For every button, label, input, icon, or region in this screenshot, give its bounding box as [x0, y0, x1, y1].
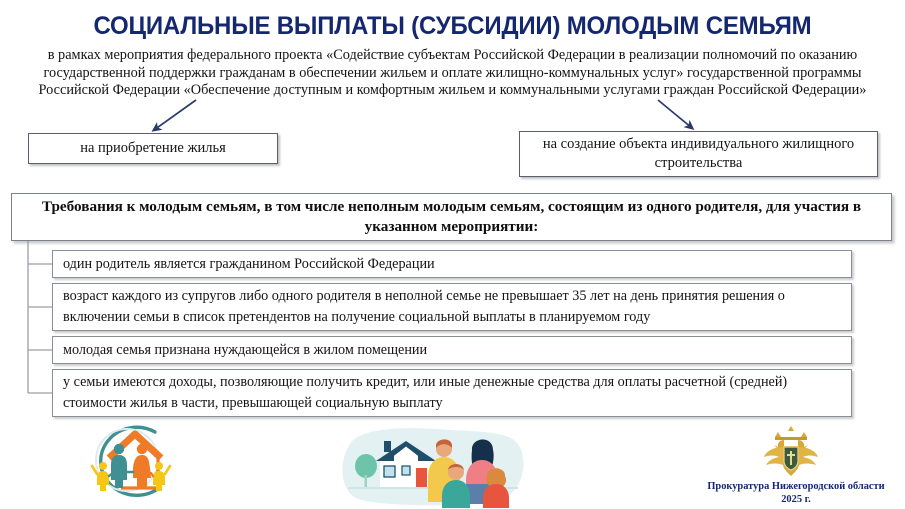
footer-organization: Прокуратура Нижегородской области — [690, 480, 902, 493]
prosecutor-emblem-icon — [762, 424, 820, 476]
family-house-logo-icon — [63, 422, 198, 500]
page-title: СОЦИАЛЬНЫЕ ВЫПЛАТЫ (СУБСИДИИ) МОЛОДЫМ СЕ… — [18, 12, 887, 41]
requirement-item: один родитель является гражданином Росси… — [52, 250, 852, 278]
purpose-box-home-purchase: на приобретение жилья — [28, 133, 278, 164]
footer-caption: Прокуратура Нижегородской области 2025 г… — [690, 480, 902, 506]
requirement-item: молодая семья признана нуждающейся в жил… — [52, 336, 852, 364]
requirements-heading: Требования к молодым семьям, в том числе… — [11, 193, 892, 241]
footer-year: 2025 г. — [690, 493, 902, 506]
requirement-item: у семьи имеются доходы, позволяющие полу… — [52, 369, 852, 417]
purpose-box-individual-construction: на создание объекта индивидуального жили… — [519, 131, 878, 177]
page-subtitle: в рамках мероприятия федерального проект… — [26, 47, 879, 100]
family-near-house-illustration — [332, 424, 532, 508]
requirement-item: возраст каждого из супругов либо одного … — [52, 283, 852, 331]
